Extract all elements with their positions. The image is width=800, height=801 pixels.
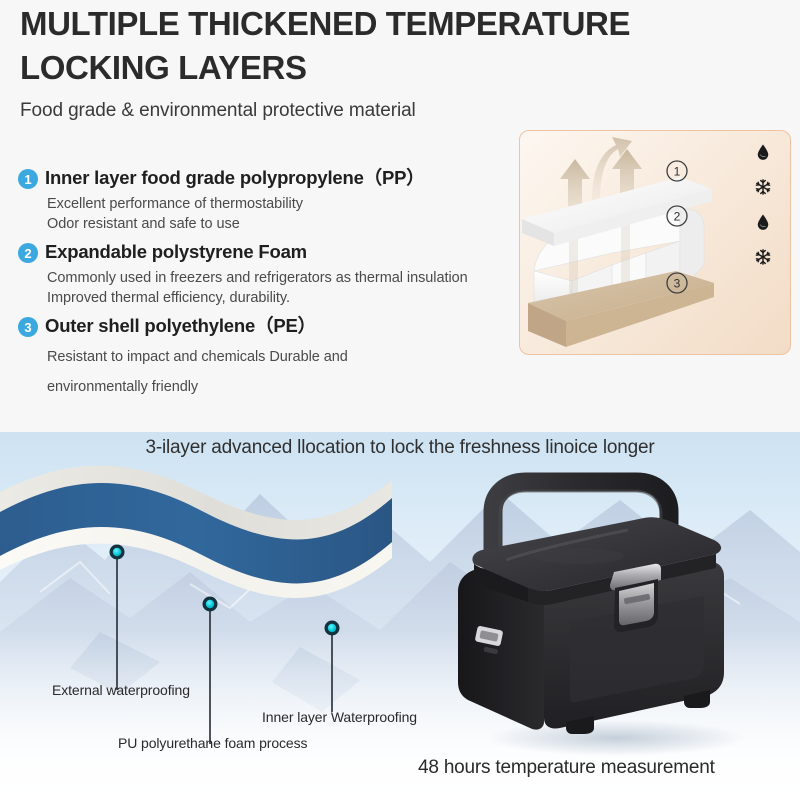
feature-list: 1 Inner layer food grade polypropylene（P… xyxy=(18,166,518,408)
callout-label-inner-waterproofing: Inner layer Waterproofing xyxy=(262,709,417,725)
page-title: MULTIPLE THICKENED TEMPERATURE LOCKING L… xyxy=(20,2,660,90)
layer-marker-3: 3 xyxy=(674,277,681,291)
bottom-section: 3-ilayer advanced llocation to lock the … xyxy=(0,432,800,801)
feature-1-description: Excellent performance of thermostability… xyxy=(47,194,518,234)
cooler-box-product-image xyxy=(448,460,778,760)
badge-number-1: 1 xyxy=(18,169,38,189)
marker-dot-1 xyxy=(113,548,121,556)
layer-marker-2: 2 xyxy=(674,210,681,224)
feature-1-title: Inner layer food grade polypropylene（PP） xyxy=(45,166,425,190)
feature-item-2: 2 Expandable polystyrene Foam Commonly u… xyxy=(18,240,518,308)
bottom-caption: 48 hours temperature measurement xyxy=(418,757,715,779)
layer-diagram: 1 2 3 xyxy=(520,131,791,355)
marker-dot-3 xyxy=(328,624,336,632)
snowflake-icon xyxy=(754,178,772,196)
feature-2-line-1: Commonly used in freezers and refrigerat… xyxy=(47,268,518,288)
feature-1-heading: 1 Inner layer food grade polypropylene（P… xyxy=(18,166,518,190)
infographic-page: MULTIPLE THICKENED TEMPERATURE LOCKING L… xyxy=(0,0,800,801)
badge-number-3: 3 xyxy=(18,317,38,337)
feature-2-description: Commonly used in freezers and refrigerat… xyxy=(47,268,518,308)
feature-3-heading: 3 Outer shell polyethylene（PE） xyxy=(18,314,518,338)
feature-item-3: 3 Outer shell polyethylene（PE） Resistant… xyxy=(18,314,518,402)
feature-3-line-1: Resistant to impact and chemicals Durabl… xyxy=(47,342,518,372)
layer-illustration-panel: 1 2 3 xyxy=(519,130,791,355)
feature-1-line-2: Odor resistant and safe to use xyxy=(47,214,518,234)
callout-label-external-waterproofing: External waterproofing xyxy=(52,682,190,698)
feature-item-1: 1 Inner layer food grade polypropylene（P… xyxy=(18,166,518,234)
feature-3-description: Resistant to impact and chemicals Durabl… xyxy=(47,342,518,402)
feature-3-line-2: environmentally friendly xyxy=(47,372,518,402)
feature-1-line-1: Excellent performance of thermostability xyxy=(47,194,518,214)
feature-2-heading: 2 Expandable polystyrene Foam xyxy=(18,240,518,264)
badge-number-2: 2 xyxy=(18,243,38,263)
marker-dot-2 xyxy=(206,600,214,608)
water-drop-icon xyxy=(754,143,772,161)
layer-marker-1: 1 xyxy=(674,165,681,179)
top-section: MULTIPLE THICKENED TEMPERATURE LOCKING L… xyxy=(0,0,800,432)
feature-2-line-2: Improved thermal efficiency, durability. xyxy=(47,288,518,308)
panel-icon-column xyxy=(754,143,772,266)
snowflake-icon xyxy=(754,248,772,266)
feature-2-title: Expandable polystyrene Foam xyxy=(45,240,307,264)
cooler-latch xyxy=(610,564,661,632)
feature-3-title: Outer shell polyethylene（PE） xyxy=(45,314,316,338)
water-drop-icon xyxy=(754,213,772,231)
callout-label-pu-foam-process: PU polyurethane foam process xyxy=(118,735,307,751)
page-subtitle: Food grade & environmental protective ma… xyxy=(20,100,416,122)
section-banner-text: 3-ilayer advanced llocation to lock the … xyxy=(0,437,800,459)
